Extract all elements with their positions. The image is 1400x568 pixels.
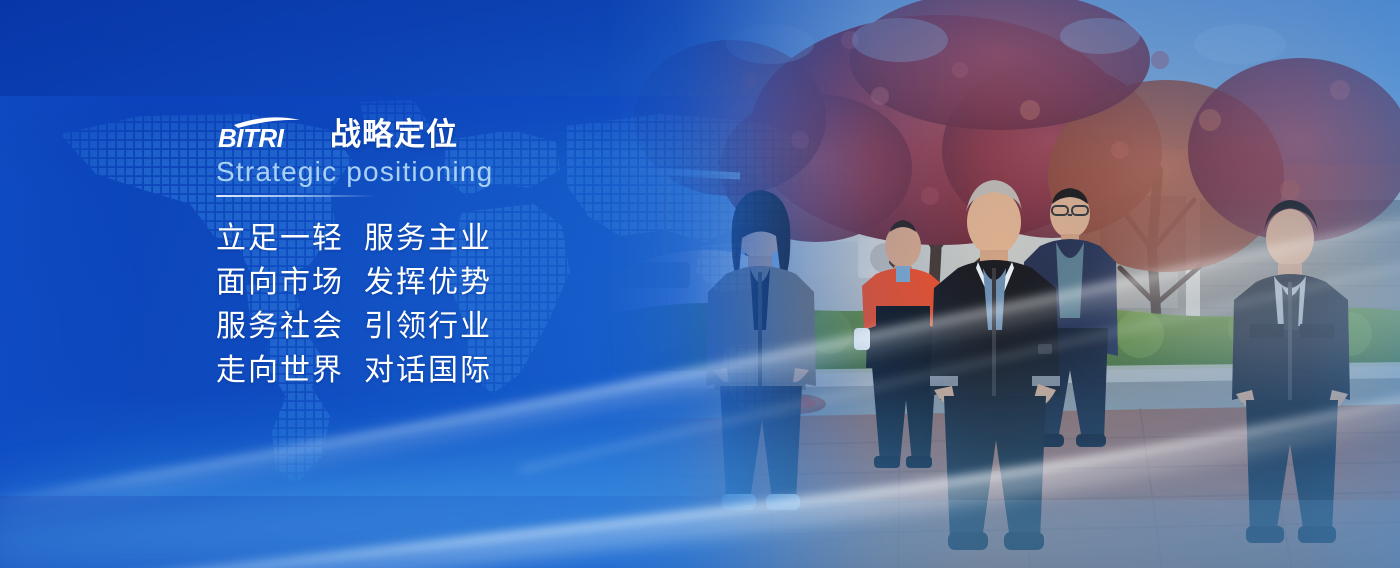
slogan-left: 面向市场 bbox=[216, 261, 364, 305]
slogan-left: 服务社会 bbox=[216, 305, 364, 349]
banner-content: BITRI 战略定位 Strategic positioning 立足一轻 服务… bbox=[216, 108, 636, 393]
svg-text:BITRI: BITRI bbox=[218, 123, 285, 152]
title-row: BITRI 战略定位 bbox=[216, 108, 636, 152]
slogan-line: 走向世界 对话国际 bbox=[216, 349, 636, 393]
slogan-line: 立足一轻 服务主业 bbox=[216, 217, 636, 261]
slogan-list: 立足一轻 服务主业 面向市场 发挥优势 服务社会 引领行业 走向世界 对话国际 bbox=[216, 217, 636, 393]
slogan-left: 走向世界 bbox=[216, 349, 364, 393]
slogan-line: 服务社会 引领行业 bbox=[216, 305, 636, 349]
campus-walk-photo bbox=[600, 0, 1400, 568]
slogan-right: 发挥优势 bbox=[364, 261, 492, 305]
slogan-left: 立足一轻 bbox=[216, 217, 364, 261]
slogan-line: 面向市场 发挥优势 bbox=[216, 261, 636, 305]
slogan-right: 引领行业 bbox=[364, 305, 492, 349]
bitri-logo: BITRI bbox=[216, 114, 316, 152]
strategic-positioning-banner: BITRI 战略定位 Strategic positioning 立足一轻 服务… bbox=[0, 0, 1400, 568]
slogan-right: 服务主业 bbox=[364, 217, 492, 261]
slogan-right: 对话国际 bbox=[364, 349, 492, 393]
title-divider bbox=[216, 195, 376, 197]
banner-title-cn: 战略定位 bbox=[330, 118, 458, 152]
banner-subtitle-en: Strategic positioning bbox=[216, 155, 636, 189]
